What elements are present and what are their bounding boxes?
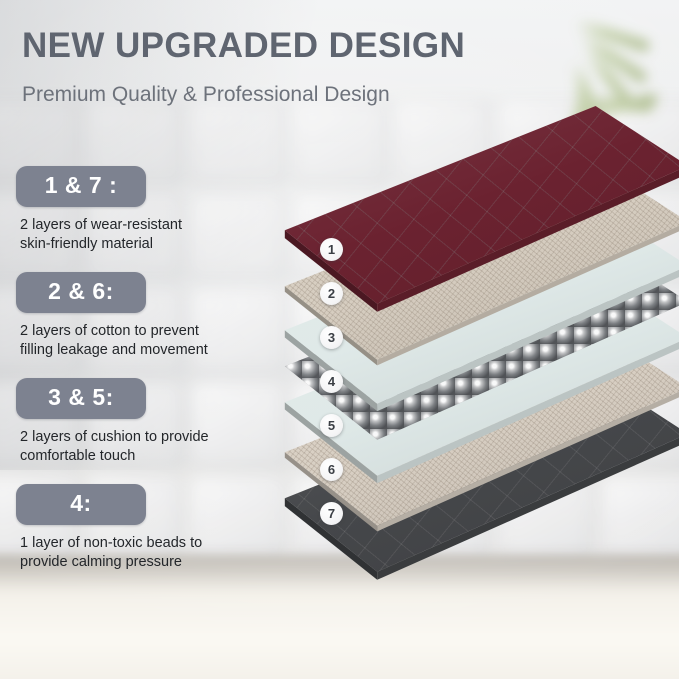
layer-badge-4: 4:	[16, 484, 146, 525]
layer-number-badge-1: 1	[320, 238, 343, 261]
info-block-2-and-6: 2 & 6: 2 layers of cotton to prevent fil…	[16, 272, 208, 360]
layer-number-badge-6: 6	[320, 458, 343, 481]
info-block-4: 4: 1 layer of non-toxic beads to provide…	[16, 484, 202, 572]
layer-number-badge-4: 4	[320, 370, 343, 393]
layer-badge-2-and-6: 2 & 6:	[16, 272, 146, 313]
layer-description-3-and-5: 2 layers of cushion to provide comfortab…	[20, 428, 209, 466]
layer-description-2-and-6: 2 layers of cotton to prevent filling le…	[20, 322, 208, 360]
layer-description-4: 1 layer of non-toxic beads to provide ca…	[20, 534, 202, 572]
page-title: NEW UPGRADED DESIGN	[22, 26, 465, 66]
layer-number-badge-7: 7	[320, 502, 343, 525]
layer-number-badge-2: 2	[320, 282, 343, 305]
product-infographic: NEW UPGRADED DESIGN Premium Quality & Pr…	[0, 0, 679, 679]
layer-badge-1-and-7: 1 & 7 :	[16, 166, 146, 207]
layer-badge-3-and-5: 3 & 5:	[16, 378, 146, 419]
exploded-layer-diagram: 1234567	[268, 106, 679, 626]
layer-description-1-and-7: 2 layers of wear-resistant skin-friendly…	[20, 216, 182, 254]
info-block-3-and-5: 3 & 5: 2 layers of cushion to provide co…	[16, 378, 209, 466]
layer-number-badge-5: 5	[320, 414, 343, 437]
page-subtitle: Premium Quality & Professional Design	[22, 83, 390, 107]
info-block-1-and-7: 1 & 7 : 2 layers of wear-resistant skin-…	[16, 166, 182, 254]
layer-number-badge-3: 3	[320, 326, 343, 349]
